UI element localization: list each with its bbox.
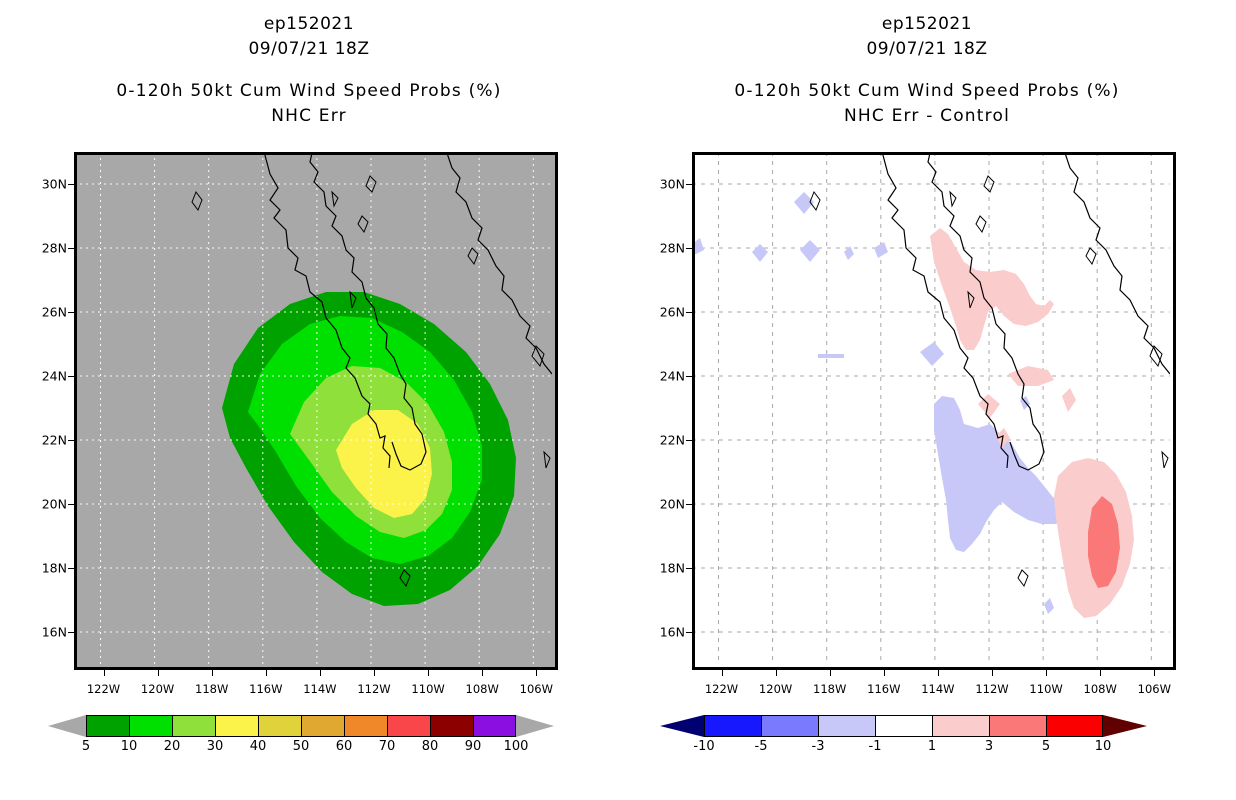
colorbar-swatch-pos5 — [1046, 715, 1103, 737]
storm-id-right: ep152021 — [618, 14, 1236, 34]
colorbar-swatch-pos3 — [989, 715, 1046, 737]
field-title-right: 0-120h 50kt Cum Wind Speed Probs (%) — [618, 81, 1236, 101]
storm-id-left: ep152021 — [0, 14, 618, 34]
colorbar-swatch-10 — [129, 715, 172, 737]
colorbar-swatch-30 — [215, 715, 258, 737]
panel-nhc-err-minus-control: ep152021 09/07/21 18Z 0-120h 50kt Cum Wi… — [618, 0, 1236, 800]
colorbar-high-arrow-left — [516, 715, 554, 737]
colorbar-low-arrow-right — [660, 715, 704, 737]
colorbar-swatch-70 — [387, 715, 430, 737]
map-left-frame — [74, 152, 558, 670]
difference-colorbar: -10 -5 -3 -1 1 3 5 10 — [618, 715, 1236, 775]
colorbar-swatch-5 — [86, 715, 129, 737]
source-title-left: NHC Err — [0, 106, 618, 126]
probability-colorbar: 5 10 20 30 40 50 60 70 80 90 100 — [0, 715, 618, 775]
colorbar-swatch-40 — [258, 715, 301, 737]
panel-nhc-err: ep152021 09/07/21 18Z 0-120h 50kt Cum Wi… — [0, 0, 618, 800]
colorbar-high-arrow-right — [1103, 715, 1147, 737]
datetime-left: 09/07/21 18Z — [0, 39, 618, 59]
colorbar-swatch-90 — [473, 715, 516, 737]
panel-right-titles: ep152021 09/07/21 18Z 0-120h 50kt Cum Wi… — [618, 0, 1236, 126]
source-title-right: NHC Err - Control — [618, 106, 1236, 126]
datetime-right: 09/07/21 18Z — [618, 39, 1236, 59]
colorbar-low-arrow-left — [48, 715, 86, 737]
panel-left-titles: ep152021 09/07/21 18Z 0-120h 50kt Cum Wi… — [0, 0, 618, 126]
colorbar-swatch-pos1 — [932, 715, 989, 737]
colorbar-swatch-80 — [430, 715, 473, 737]
colorbar-swatch-20 — [172, 715, 215, 737]
field-title-left: 0-120h 50kt Cum Wind Speed Probs (%) — [0, 81, 618, 101]
colorbar-swatch-neg5 — [761, 715, 818, 737]
map-right-frame — [692, 152, 1176, 670]
colorbar-swatch-50 — [301, 715, 344, 737]
colorbar-swatch-60 — [344, 715, 387, 737]
wind-speed-probability-figure: ep152021 09/07/21 18Z 0-120h 50kt Cum Wi… — [0, 0, 1236, 800]
colorbar-swatch-neg10 — [704, 715, 761, 737]
colorbar-swatch-neg3 — [818, 715, 875, 737]
map-left: 30N 28N 26N 24N 22N 20N 18N 16N 122W — [74, 152, 558, 670]
map-right: 30N 28N 26N 24N 22N 20N 18N 16N 122W — [692, 152, 1176, 670]
colorbar-swatch-neg1 — [875, 715, 932, 737]
